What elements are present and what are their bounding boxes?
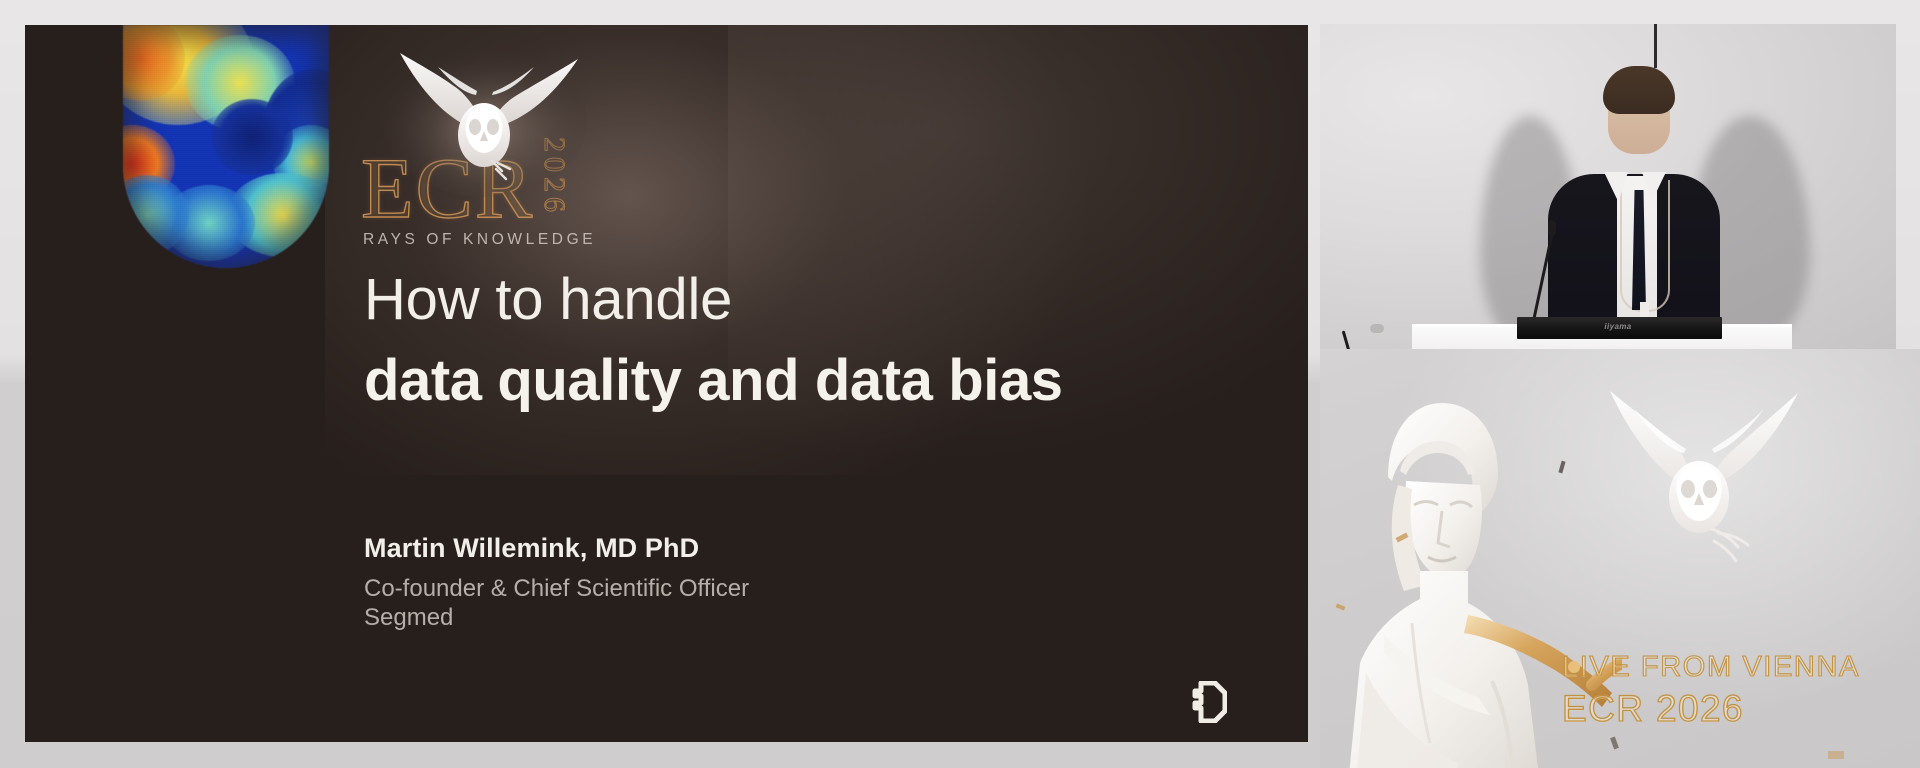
- title-line-2: data quality and data bias: [364, 349, 1264, 414]
- promo-line-2: ECR 2026: [1562, 688, 1912, 730]
- presentation-slide[interactable]: ECR 2026 RAYS OF KNOWLEDGE How to handle…: [25, 25, 1308, 742]
- segmed-logo-mark: [1191, 681, 1227, 723]
- speaker-hair: [1603, 66, 1675, 114]
- speaker-role: Co-founder & Chief Scientific Officer: [364, 574, 1184, 603]
- ecr-logo-year: 2026: [537, 137, 571, 217]
- monitor-brand-label: iiyama: [1588, 322, 1648, 331]
- speaker-name: Martin Willemink, MD PhD: [364, 533, 1184, 564]
- slide-title: How to handle data quality and data bias: [364, 268, 1264, 414]
- ecr-tagline: RAYS OF KNOWLEDGE: [363, 231, 596, 249]
- live-speaker-video[interactable]: iiyama: [1320, 24, 1896, 349]
- title-line-1: How to handle: [364, 268, 1264, 333]
- promo-line-1: LIVE FROM VIENNA: [1562, 651, 1912, 684]
- ceiling-cable: [1654, 24, 1657, 68]
- heatmap-scan-image: [123, 25, 329, 268]
- ecr-logo-letters: ECR: [361, 153, 534, 224]
- ecr-logo: ECR 2026 RAYS OF KNOWLEDGE: [361, 49, 601, 249]
- speaker-block: Martin Willemink, MD PhD Co-founder & Ch…: [364, 533, 1184, 633]
- owl-icon: [1548, 369, 1848, 599]
- microphone-head: [1548, 220, 1556, 236]
- speaker-organization: Segmed: [364, 603, 1184, 632]
- microphone-head-secondary: [1370, 324, 1384, 333]
- promo-text-block: LIVE FROM VIENNA ECR 2026: [1562, 651, 1912, 730]
- ecr-promo-still[interactable]: LIVE FROM VIENNA ECR 2026: [1320, 349, 1920, 768]
- speaker-badge: [1640, 302, 1649, 318]
- confetti-fleck: [1828, 751, 1844, 759]
